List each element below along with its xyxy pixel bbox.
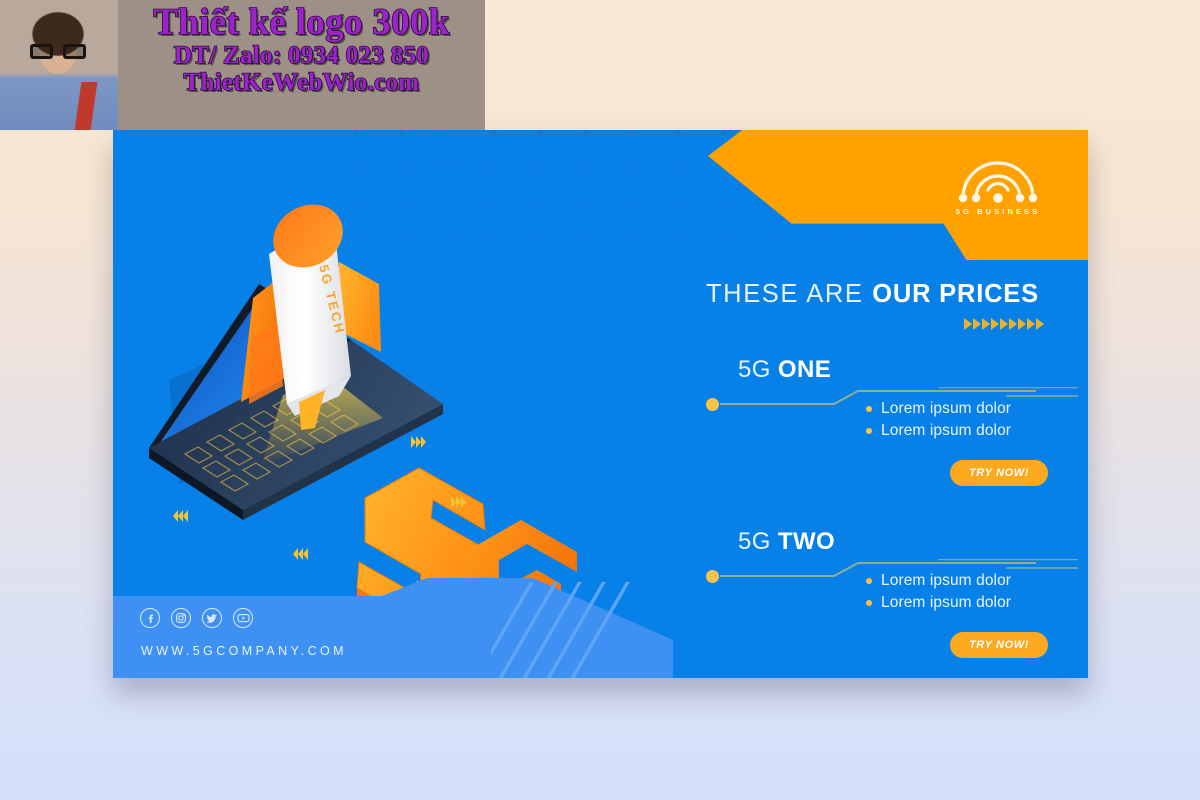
- list-item: Lorem ipsum dolor: [866, 422, 1011, 440]
- watermark-line-1: Thiết kế logo 300k: [118, 4, 485, 42]
- plan-name-thin: 5G: [738, 528, 778, 555]
- bullet-icon: [866, 406, 872, 412]
- facebook-icon[interactable]: [140, 608, 160, 628]
- feature-text: Lorem ipsum dolor: [881, 422, 1011, 440]
- plan-bullet-dot: [706, 570, 719, 583]
- chevron-icon: [1000, 318, 1008, 330]
- chevron-icon: [982, 318, 990, 330]
- chevron-icon: [991, 318, 999, 330]
- chevron-icon: [1018, 318, 1026, 330]
- list-item: Lorem ipsum dolor: [866, 572, 1011, 590]
- backpack-strap: [75, 82, 98, 130]
- chevron-icon: [973, 318, 981, 330]
- chevron-decoration: [293, 548, 308, 561]
- plan-card-two: 5G TWO Lorem ipsum dolor Lorem ipsum dol…: [706, 528, 1078, 674]
- logo-label: 5G BUSINESS: [946, 207, 1050, 216]
- feature-text: Lorem ipsum dolor: [881, 572, 1011, 590]
- plan-title: 5G TWO: [738, 528, 835, 556]
- chevron-decoration: [173, 510, 188, 523]
- watermark-line-2: DT/ Zalo: 0934 023 850: [118, 43, 485, 69]
- plan-name-bold: ONE: [778, 356, 831, 383]
- watermark-photo: [0, 0, 118, 130]
- list-item: Lorem ipsum dolor: [866, 400, 1011, 418]
- bullet-icon: [866, 578, 872, 584]
- watermark-line-3: ThietKeWebWio.com: [118, 70, 485, 96]
- watermark-overlay: Thiết kế logo 300k DT/ Zalo: 0934 023 85…: [0, 0, 485, 130]
- plan-name-bold: TWO: [778, 528, 835, 555]
- plan-bullet-dot: [706, 398, 719, 411]
- diagonal-stripes-decoration: [491, 582, 671, 678]
- headline-bold: OUR PRICES: [872, 280, 1039, 308]
- social-links: [140, 608, 253, 628]
- plan-feature-list: Lorem ipsum dolor Lorem ipsum dolor: [866, 400, 1011, 444]
- try-now-button-one[interactable]: TRY NOW!: [950, 460, 1048, 486]
- page-title: THESE ARE OUR PRICES: [706, 280, 1078, 309]
- twitter-icon[interactable]: [202, 608, 222, 628]
- feature-text: Lorem ipsum dolor: [881, 400, 1011, 418]
- chevron-icon: [1036, 318, 1044, 330]
- plan-card-one: 5G ONE Lorem ipsum dolor Lorem ipsum dol…: [706, 356, 1078, 502]
- list-item: Lorem ipsum dolor: [866, 594, 1011, 612]
- bullet-icon: [866, 428, 872, 434]
- watermark-text-block: Thiết kế logo 300k DT/ Zalo: 0934 023 85…: [118, 4, 485, 96]
- bullet-icon: [866, 600, 872, 606]
- chevron-icon: [964, 318, 972, 330]
- chevron-decoration: [451, 496, 466, 509]
- chevron-decoration: [411, 436, 426, 449]
- glasses-icon: [30, 44, 86, 59]
- brand-logo: 5G BUSINESS: [946, 156, 1050, 216]
- promo-banner: 5G BUSINESS: [113, 130, 1088, 678]
- headline-thin: THESE ARE: [706, 280, 872, 308]
- youtube-icon[interactable]: [233, 608, 253, 628]
- plan-title: 5G ONE: [738, 356, 831, 384]
- website-url[interactable]: WWW.5GCOMPANY.COM: [141, 644, 347, 658]
- chevron-icon: [1027, 318, 1035, 330]
- chevron-icon: [1009, 318, 1017, 330]
- wifi-signal-icon: [955, 156, 1041, 204]
- feature-text: Lorem ipsum dolor: [881, 594, 1011, 612]
- instagram-icon[interactable]: [171, 608, 191, 628]
- chevron-row-decoration: [706, 318, 1078, 330]
- try-now-button-two[interactable]: TRY NOW!: [950, 632, 1048, 658]
- plan-name-thin: 5G: [738, 356, 778, 383]
- pricing-panel: THESE ARE OUR PRICES 5G ONE Lorem ipsum …: [706, 280, 1078, 674]
- plan-feature-list: Lorem ipsum dolor Lorem ipsum dolor: [866, 572, 1011, 616]
